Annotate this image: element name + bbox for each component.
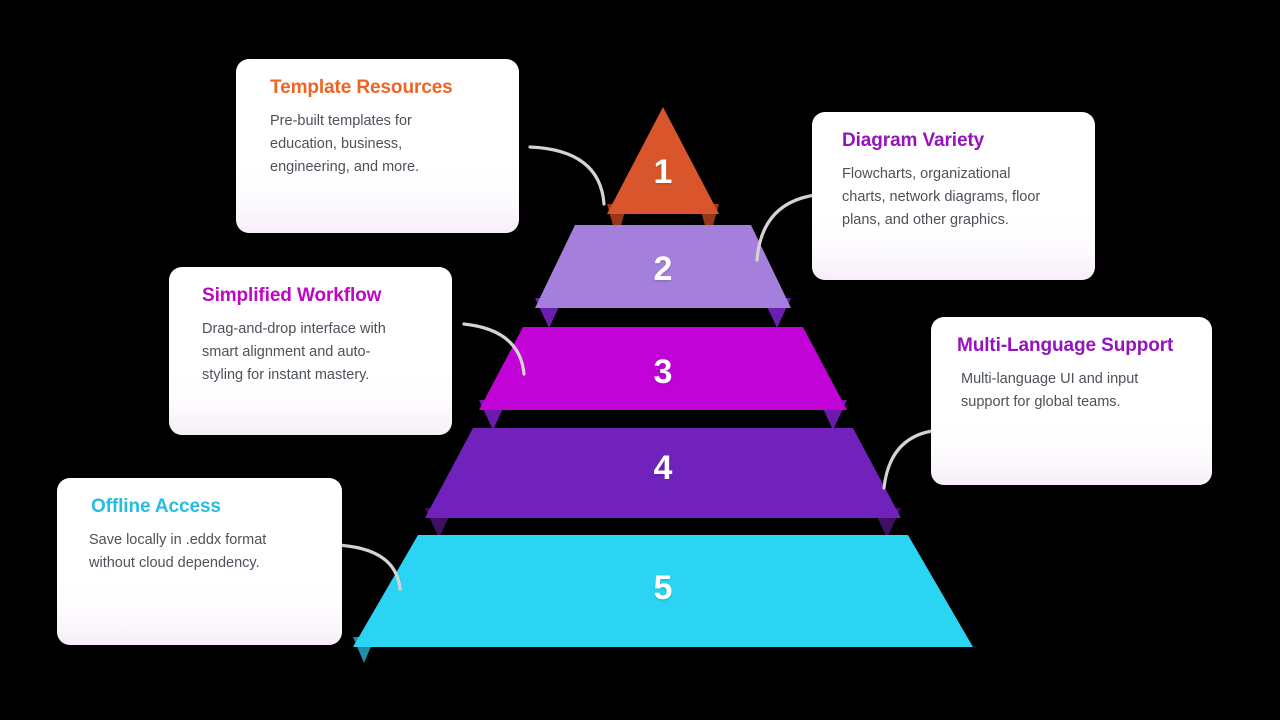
card-body: Drag-and-drop interface with smart align…	[191, 318, 430, 387]
card-template-resources[interactable]: Template Resources Pre-built templates f…	[236, 59, 519, 233]
card-title: Offline Access	[79, 496, 320, 519]
card-body: Flowcharts, organizational charts, netwo…	[834, 163, 1073, 232]
card-body: Multi-language UI and input support for …	[953, 368, 1190, 414]
card-body: Pre-built templates for education, busin…	[258, 110, 497, 179]
card-diagram-variety[interactable]: Diagram Variety Flowcharts, organization…	[812, 112, 1095, 280]
pyramid-tier-3[interactable]	[479, 327, 847, 410]
pyramid-tier-1[interactable]	[607, 107, 719, 214]
card-title: Multi-Language Support	[953, 335, 1190, 358]
card-title: Template Resources	[258, 77, 497, 100]
pyramid-tier-2[interactable]	[535, 225, 791, 308]
pyramid-tier-4[interactable]	[425, 428, 901, 518]
card-title: Simplified Workflow	[191, 285, 430, 308]
pyramid-tier-5[interactable]	[353, 535, 973, 647]
card-multi-language-support[interactable]: Multi-Language Support Multi-language UI…	[931, 317, 1212, 485]
card-simplified-workflow[interactable]: Simplified Workflow Drag-and-drop interf…	[169, 267, 452, 435]
card-body: Save locally in .eddx format without clo…	[79, 529, 320, 575]
card-title: Diagram Variety	[834, 130, 1073, 153]
card-offline-access[interactable]: Offline Access Save locally in .eddx for…	[57, 478, 342, 645]
infographic-canvas: 12345 Template Resources Pre-built templ…	[0, 0, 1280, 720]
